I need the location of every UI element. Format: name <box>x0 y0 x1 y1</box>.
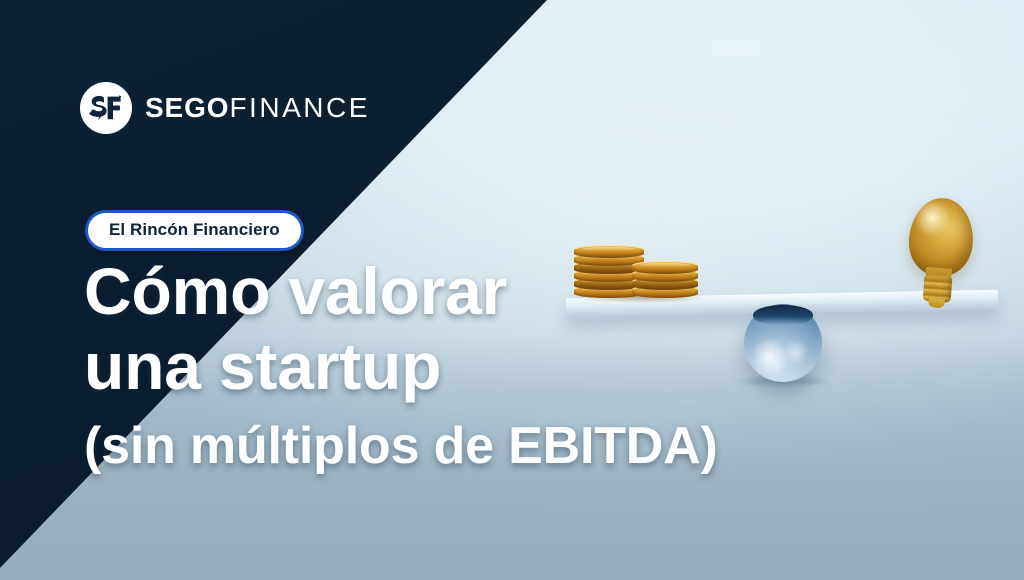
brand-name-bold: SEGO <box>145 92 229 124</box>
lightbulb-glass <box>907 196 976 278</box>
gold-lightbulb-icon <box>900 196 980 313</box>
social-banner: SEGO FINANCE El Rincón Financiero Cómo v… <box>0 0 1024 580</box>
headline-line-3: (sin múltiplos de EBITDA) <box>84 419 718 474</box>
brand-name-light: FINANCE <box>229 92 370 124</box>
headline: Cómo valorar una startup (sin múltiplos … <box>84 258 718 473</box>
headline-line-1: Cómo valorar <box>84 258 718 325</box>
sphere-top-shading <box>753 305 813 325</box>
category-badge[interactable]: El Rincón Financiero <box>85 210 304 251</box>
lightbulb-tip <box>928 298 945 308</box>
headline-line-2: una startup <box>84 333 718 400</box>
sego-finance-monogram-icon <box>80 82 132 134</box>
coin-icon <box>574 245 644 258</box>
blue-sphere-fulcrum <box>744 304 822 382</box>
brand-wordmark: SEGO FINANCE <box>145 92 370 124</box>
category-badge-label: El Rincón Financiero <box>88 213 301 248</box>
brand-logo[interactable]: SEGO FINANCE <box>80 82 370 134</box>
